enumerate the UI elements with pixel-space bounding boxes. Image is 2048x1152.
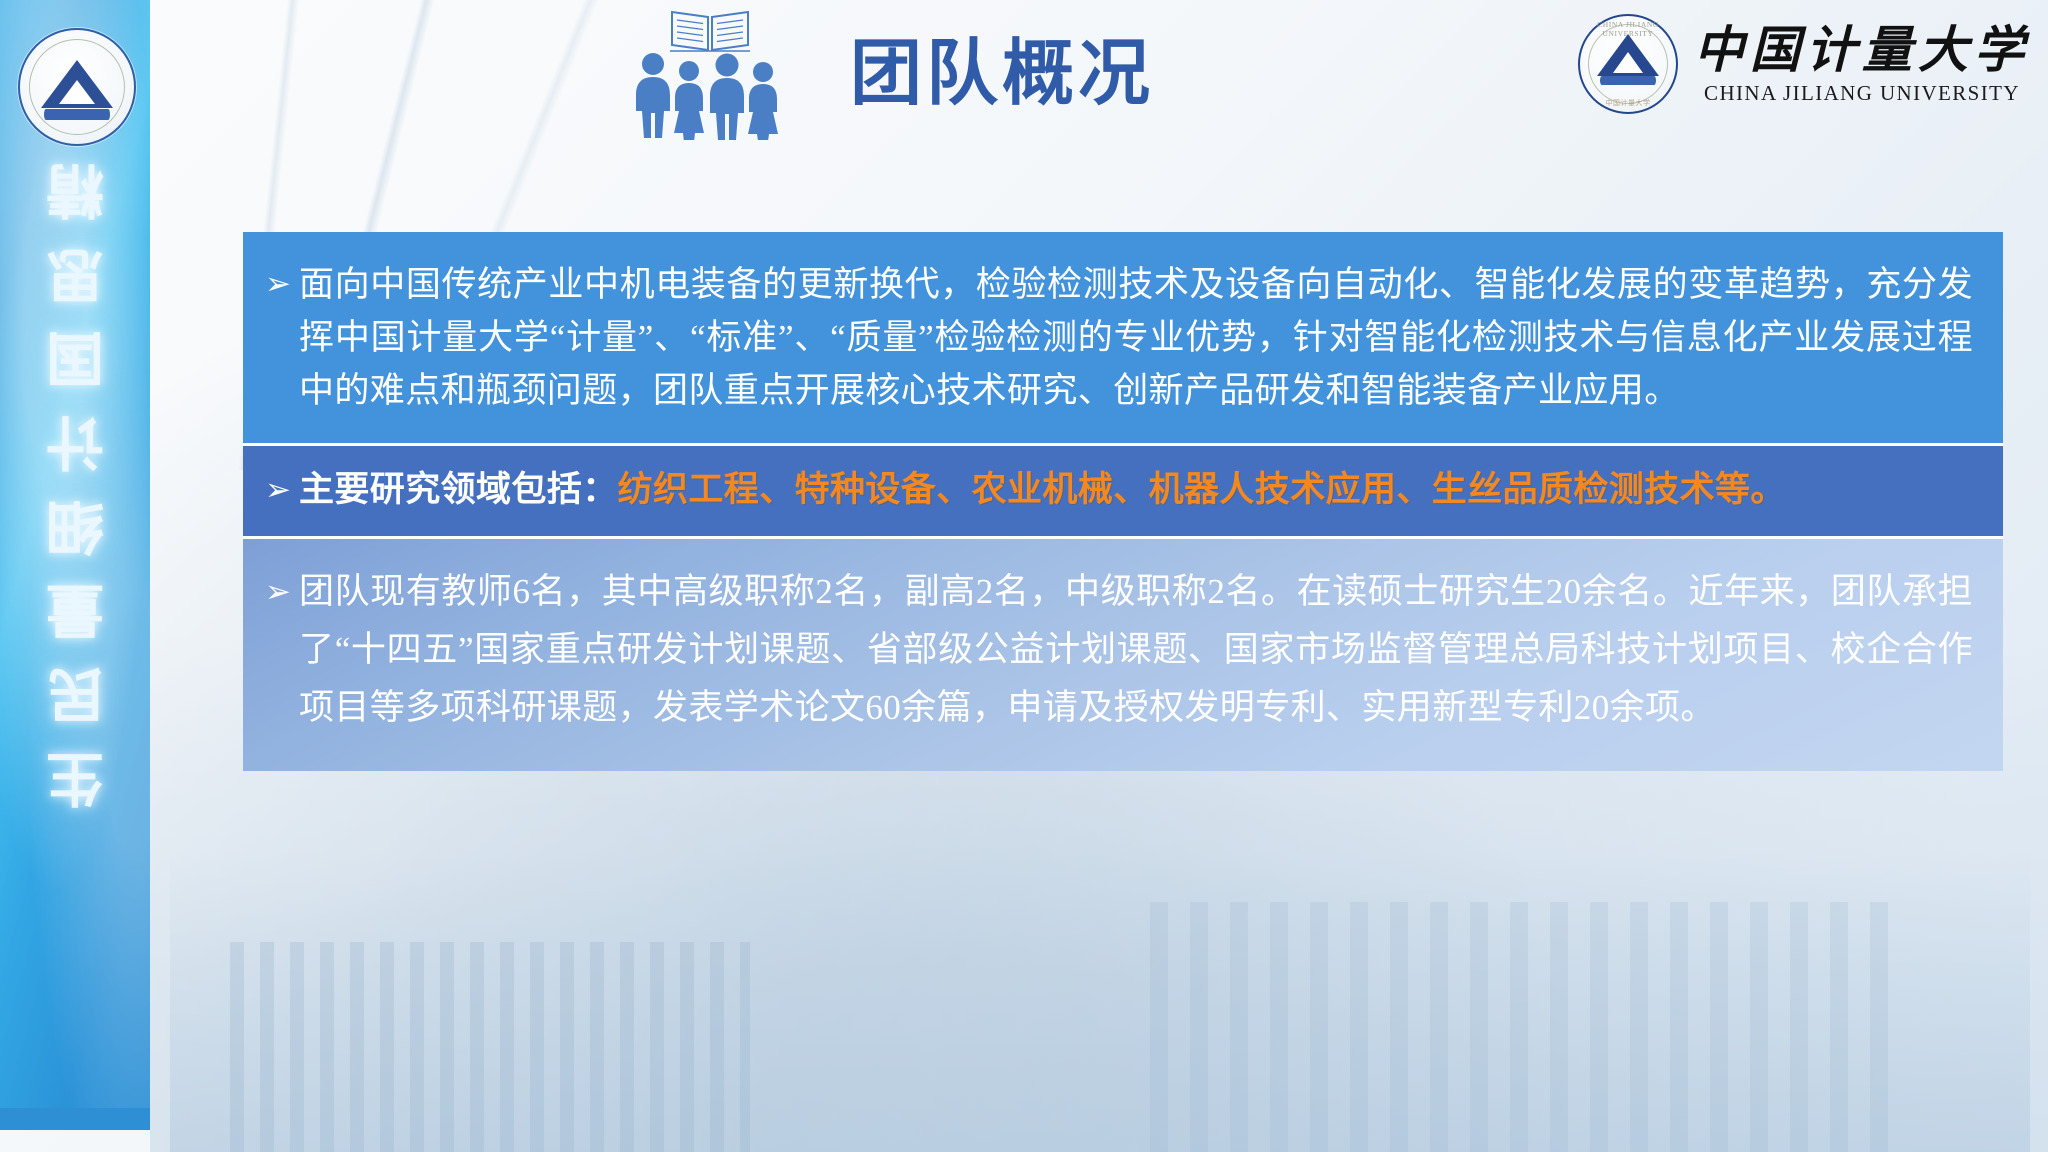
slide-header: 团队概况 CHINA JILIANG UNIVERSITY 中国计量大学 中国计…: [150, 0, 2048, 172]
university-name-cn: 中国计量大学: [1694, 25, 2030, 75]
motto-char: 量: [46, 580, 104, 638]
block-overview: ➢ 面向中国传统产业中机电装备的更新换代，检验检测技术及设备向自动化、智能化发展…: [243, 232, 2003, 443]
overview-paragraph: 面向中国传统产业中机电装备的更新换代，检验检测技术及设备向自动化、智能化发展的变…: [299, 258, 1973, 417]
content-area: ➢ 面向中国传统产业中机电装备的更新换代，检验检测技术及设备向自动化、智能化发展…: [243, 232, 2003, 771]
university-name-block: 中国计量大学 CHINA JILIANG UNIVERSITY: [1694, 25, 2030, 104]
seal-chinese-arc-text: 中国计量大学: [1580, 98, 1676, 108]
motto-char: 精: [46, 160, 104, 218]
sidebar-footer-strip: [0, 1108, 150, 1130]
open-book-icon: [670, 10, 750, 54]
motto-char: 思: [46, 244, 104, 302]
motto-char: 生: [46, 748, 104, 806]
emblem-book-base: [44, 109, 110, 120]
motto-char: 计: [46, 412, 104, 470]
motto-char: 细: [46, 496, 104, 554]
team-people-book-icon: [629, 10, 789, 140]
seal-triangle-inner: [1613, 52, 1643, 73]
bullet-arrow-icon: ➢: [265, 462, 299, 518]
block-team-stats: ➢ 团队现有教师6名，其中高级职称2名，副高2名，中级职称2名。在读硕士研究生2…: [243, 539, 2003, 771]
motto-char: 民: [46, 664, 104, 722]
seal-book-base: [1600, 76, 1656, 85]
sidebar: 精 思 国 计 细 量 民 生: [0, 0, 150, 1130]
university-name-en: CHINA JILIANG UNIVERSITY: [1704, 83, 2020, 104]
bullet-arrow-icon: ➢: [265, 563, 299, 621]
cju-emblem-icon: [18, 28, 136, 146]
block-research-fields: ➢ 主要研究领域包括：纺织工程、特种设备、农业机械、机器人技术应用、生丝品质检测…: [243, 443, 2003, 539]
bullet-arrow-icon: ➢: [265, 258, 299, 310]
page-title: 团队概况: [850, 38, 1154, 110]
emblem-triangle-inner: [59, 80, 95, 104]
campus-building-watermark: [170, 852, 2030, 1152]
motto-char: 国: [46, 328, 104, 386]
sidebar-motto: 精 思 国 计 细 量 民 生: [0, 160, 150, 800]
four-people-icon: [629, 52, 789, 140]
slide-root: 精 思 国 计 细 量 民 生: [0, 0, 2048, 1152]
university-logo: CHINA JILIANG UNIVERSITY 中国计量大学 中国计量大学 C…: [1578, 14, 2030, 114]
research-fields-paragraph: 主要研究领域包括：纺织工程、特种设备、农业机械、机器人技术应用、生丝品质检测技术…: [299, 462, 1973, 518]
research-fields-label: 主要研究领域包括：: [299, 470, 618, 509]
cju-seal-icon: CHINA JILIANG UNIVERSITY 中国计量大学: [1578, 14, 1678, 114]
emblem-mountain-book-mark: [38, 56, 116, 118]
research-fields-highlight: 纺织工程、特种设备、农业机械、机器人技术应用、生丝品质检测技术等。: [618, 470, 1786, 509]
team-stats-paragraph: 团队现有教师6名，其中高级职称2名，副高2名，中级职称2名。在读硕士研究生20余…: [299, 563, 1973, 737]
